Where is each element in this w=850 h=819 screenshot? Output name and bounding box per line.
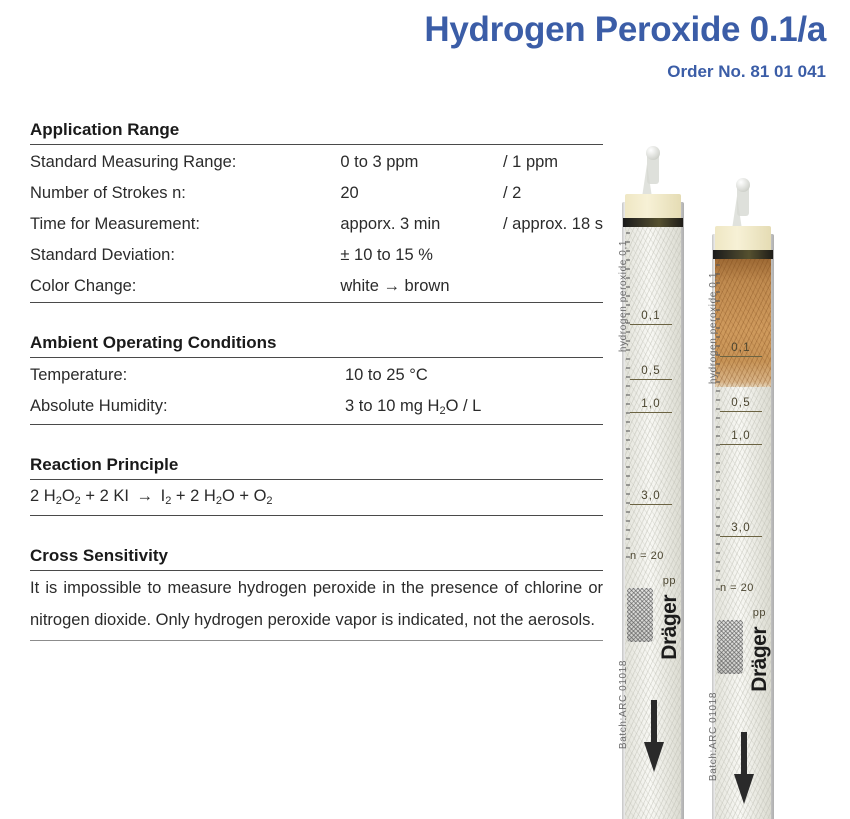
unused-detector-tube: hydrogen peroxide 0,1 Batch:ARC 01018 0,… (622, 140, 684, 819)
section-heading-cross-sensitivity: Cross Sensitivity (30, 544, 603, 570)
ambient-conditions-table: Temperature: 10 to 25 °C Absolute Humidi… (30, 360, 603, 424)
row-label: Absolute Humidity: (30, 391, 345, 424)
arrow-head (734, 774, 754, 804)
eq-sub: 2 (56, 495, 62, 507)
tube-strokes-note: n = 20 (630, 550, 676, 562)
section-ambient-operating-conditions: Ambient Operating Conditions Temperature… (30, 331, 603, 425)
row-value-secondary: / 1 ppm (503, 147, 603, 178)
eq-part: I (156, 487, 165, 505)
section-heading-application-range: Application Range (30, 118, 603, 144)
tube-plug (715, 226, 771, 252)
section-spacer (30, 303, 603, 331)
tube-scale-mark: 0,1 (720, 342, 762, 357)
tube-brand-label: Dräger (658, 595, 682, 660)
tube-filter-mesh (717, 620, 743, 674)
arrow-shaft (651, 700, 657, 744)
row-value-primary: ± 10 to 15 % (340, 240, 503, 271)
section-application-range: Application Range Standard Measuring Ran… (30, 118, 603, 303)
row-value-primary: 10 to 25 °C (345, 360, 603, 391)
specification-content: Application Range Standard Measuring Ran… (30, 118, 603, 641)
tube-dark-band (623, 218, 683, 227)
row-label: Time for Measurement: (30, 209, 340, 240)
cross-sensitivity-text: It is impossible to measure hydrogen per… (30, 571, 603, 640)
table-row: Time for Measurement: apporx. 3 min / ap… (30, 209, 603, 240)
table-row: Absolute Humidity: 3 to 10 mg H2O / L (30, 391, 603, 424)
tube-scale-mark: 0,1 (630, 310, 672, 325)
tube-unit-note: pp (630, 575, 676, 587)
row-value-secondary (503, 240, 603, 271)
tube-batch-label: Batch:ARC 01018 (618, 660, 629, 749)
row-value-primary: 0 to 3 ppm (340, 147, 503, 178)
tube-scale-mark: 3,0 (630, 490, 672, 505)
tube-scale-mark: 3,0 (720, 522, 762, 537)
section-spacer (30, 516, 603, 544)
tube-brand-label: Dräger (748, 627, 772, 692)
row-value-secondary: / approx. 18 s (503, 209, 603, 240)
arrow-head (644, 742, 664, 772)
application-range-table: Standard Measuring Range: 0 to 3 ppm / 1… (30, 147, 603, 302)
table-row: Standard Deviation: ± 10 to 15 % (30, 240, 603, 271)
section-heading-ambient-operating-conditions: Ambient Operating Conditions (30, 331, 603, 357)
row-value-secondary: / 2 (503, 178, 603, 209)
section-heading-reaction-principle: Reaction Principle (30, 453, 603, 479)
tube-filter-mesh (627, 588, 653, 642)
tube-scale-mark: 0,5 (630, 365, 672, 380)
tube-scale-mark: 1,0 (630, 398, 672, 413)
row-label: Standard Deviation: (30, 240, 340, 271)
tube-sealed-tip (736, 178, 750, 192)
eq-sub: 2 (165, 495, 171, 507)
eq-part: + 2 KI (81, 487, 134, 505)
row-label: Temperature: (30, 360, 345, 391)
row-value-secondary (503, 271, 603, 302)
row-value-primary: apporx. 3 min (340, 209, 503, 240)
humidity-value-post: O / L (446, 397, 482, 415)
tube-scale-mark: 1,0 (720, 430, 762, 445)
tube-strokes-note: n = 20 (720, 582, 766, 594)
tube-dark-band (713, 250, 773, 259)
eq-part: O + O (222, 487, 266, 505)
table-row: Temperature: 10 to 25 °C (30, 360, 603, 391)
table-row: Color Change: white → brown (30, 271, 603, 302)
reaction-equation: 2 H2O2 + 2 KI → I2 + 2 H2O + O2 (30, 480, 603, 515)
arrow-shaft (741, 732, 747, 776)
section-rule-top (30, 144, 603, 145)
section-rule-bottom (30, 640, 603, 641)
section-reaction-principle: Reaction Principle 2 H2O2 + 2 KI → I2 + … (30, 453, 603, 516)
row-label: Number of Strokes n: (30, 178, 340, 209)
eq-sub: 2 (266, 495, 272, 507)
section-rule-top (30, 357, 603, 358)
used-detector-tube: hydrogen peroxide 0,1 Batch:ARC 01018 0,… (712, 172, 774, 819)
section-cross-sensitivity: Cross Sensitivity It is impossible to me… (30, 544, 603, 641)
eq-part: 2 H (30, 487, 56, 505)
eq-sub: 2 (216, 495, 222, 507)
table-row: Number of Strokes n: 20 / 2 (30, 178, 603, 209)
table-row: Standard Measuring Range: 0 to 3 ppm / 1… (30, 147, 603, 178)
tube-vertical-label: hydrogen peroxide 0,1 (618, 240, 629, 352)
eq-part: O (62, 487, 75, 505)
detector-tube-photo: hydrogen peroxide 0,1 Batch:ARC 01018 0,… (604, 0, 850, 819)
tube-sealed-tip (646, 146, 660, 160)
eq-part: + 2 H (171, 487, 215, 505)
tube-scale-mark: 0,5 (720, 397, 762, 412)
humidity-subscript: 2 (439, 405, 445, 417)
tube-plug (625, 194, 681, 220)
row-value-primary: 3 to 10 mg H2O / L (345, 391, 603, 424)
row-label: Color Change: (30, 271, 340, 302)
eq-sub: 2 (75, 495, 81, 507)
humidity-value-pre: 3 to 10 mg H (345, 397, 439, 415)
reaction-arrow-icon: → (134, 487, 157, 505)
tube-unit-note: pp (720, 607, 766, 619)
section-spacer (30, 425, 603, 453)
row-value-primary: white → brown (340, 271, 503, 302)
tube-vertical-label: hydrogen peroxide 0,1 (708, 272, 719, 384)
tube-brown-stain-indication (715, 259, 771, 387)
row-value-primary: 20 (340, 178, 503, 209)
tube-batch-label: Batch:ARC 01018 (708, 692, 719, 781)
row-label: Standard Measuring Range: (30, 147, 340, 178)
